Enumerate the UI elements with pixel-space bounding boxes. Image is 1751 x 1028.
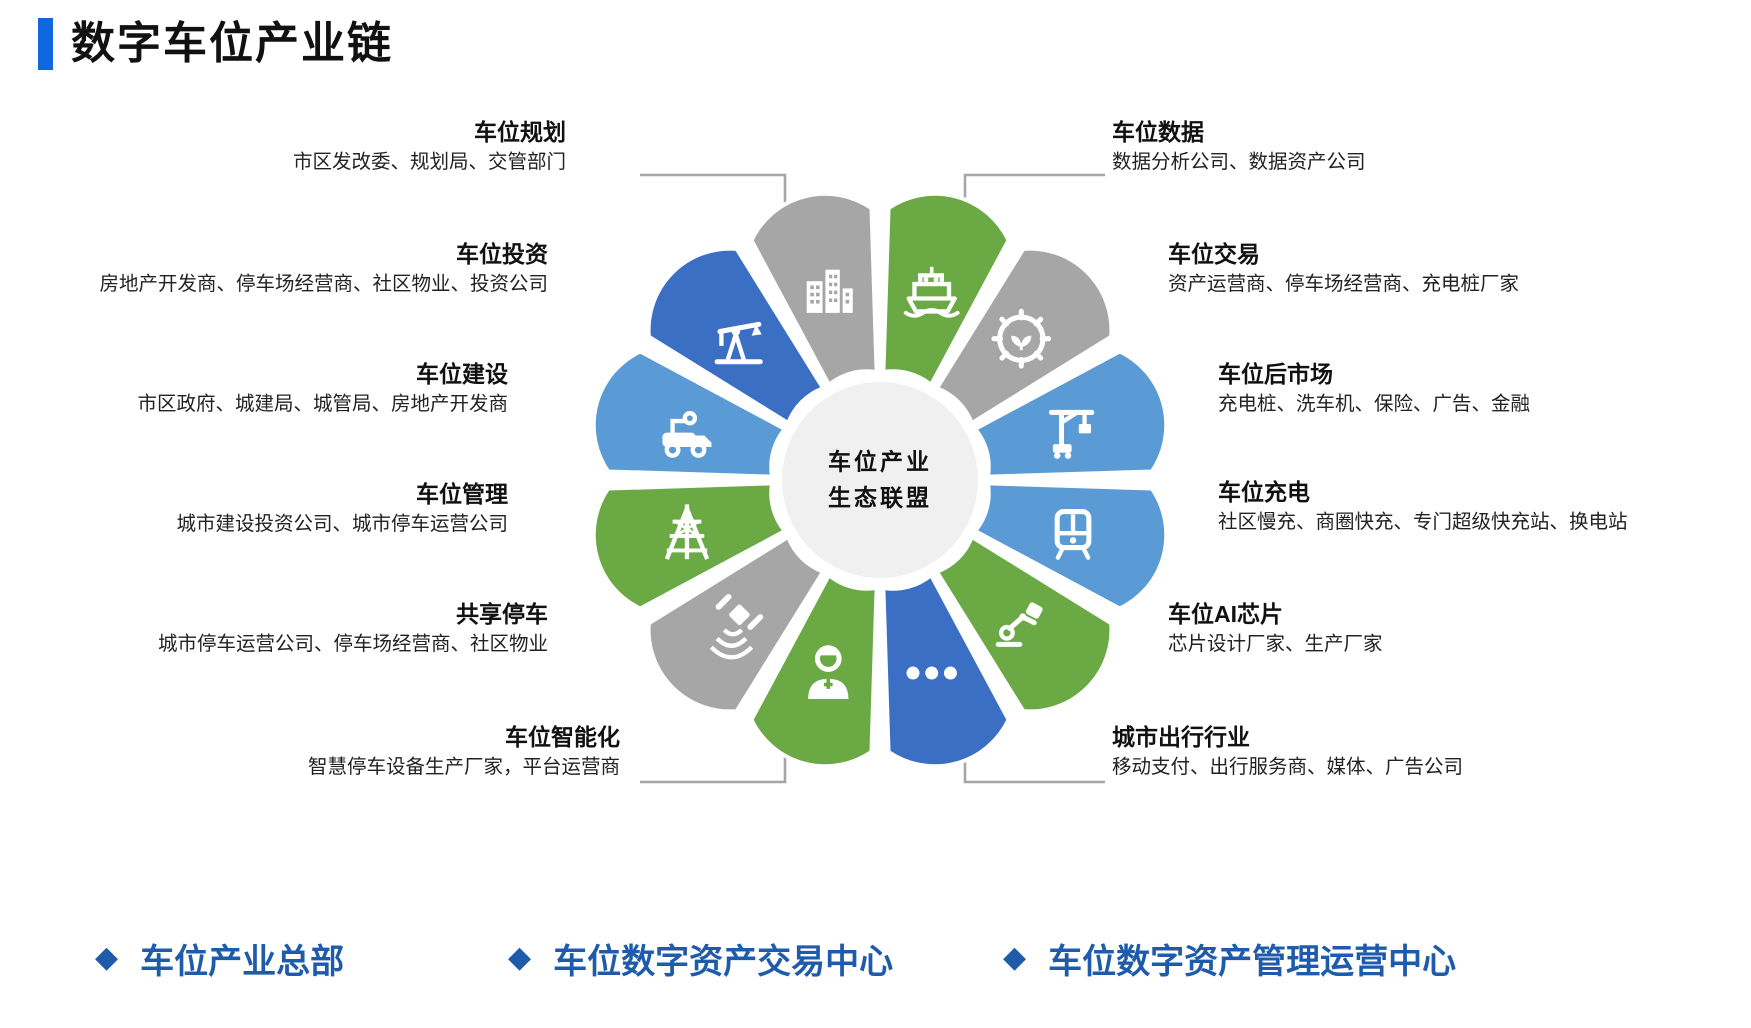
label-mobility-title: 城市出行行业 bbox=[1112, 723, 1463, 752]
label-construct-title: 车位建设 bbox=[0, 360, 508, 389]
label-mobility: 城市出行行业 移动支付、出行服务商、媒体、广告公司 bbox=[1112, 723, 1463, 780]
wheel-svg bbox=[500, 160, 1260, 800]
hub-circle bbox=[782, 382, 978, 578]
label-trade: 车位交易 资产运营商、停车场经营商、充电桩厂家 bbox=[1168, 240, 1519, 297]
label-planning-sub: 市区发改委、规划局、交管部门 bbox=[0, 150, 566, 175]
diamond-icon: ◆ bbox=[1003, 943, 1026, 973]
page-title: 数字车位产业链 bbox=[71, 22, 393, 66]
label-construct-sub: 市区政府、城建局、城管局、房地产开发商 bbox=[0, 392, 508, 417]
label-charging-sub: 社区慢充、商圈快充、专门超级快充站、换电站 bbox=[1218, 510, 1628, 535]
label-mobility-sub: 移动支付、出行服务商、媒体、广告公司 bbox=[1112, 755, 1463, 780]
label-invest: 车位投资 房地产开发商、停车场经营商、社区物业、投资公司 bbox=[0, 240, 548, 297]
label-aftermarket-title: 车位后市场 bbox=[1218, 360, 1530, 389]
footer-bar: ◆ 车位产业总部 ◆ 车位数字资产交易中心 ◆ 车位数字资产管理运营中心 bbox=[0, 918, 1751, 998]
footer-item-operations-label: 车位数字资产管理运营中心 bbox=[1048, 934, 1456, 983]
page-header: 数字车位产业链 bbox=[38, 18, 393, 70]
label-planning-title: 车位规划 bbox=[0, 118, 566, 147]
footer-item-hq-label: 车位产业总部 bbox=[140, 934, 344, 983]
dots-icon bbox=[907, 667, 957, 680]
label-aftermarket: 车位后市场 充电桩、洗车机、保险、广告、金融 bbox=[1218, 360, 1530, 417]
label-charging-title: 车位充电 bbox=[1218, 478, 1628, 507]
label-invest-sub: 房地产开发商、停车场经营商、社区物业、投资公司 bbox=[0, 272, 548, 297]
footer-item-exchange[interactable]: ◆ 车位数字资产交易中心 bbox=[508, 934, 893, 983]
label-ai-chip-sub: 芯片设计厂家、生产厂家 bbox=[1168, 632, 1383, 657]
label-charging: 车位充电 社区慢充、商圈快充、专门超级快充站、换电站 bbox=[1218, 478, 1628, 535]
label-trade-title: 车位交易 bbox=[1168, 240, 1519, 269]
label-ai-chip: 车位AI芯片 芯片设计厂家、生产厂家 bbox=[1168, 600, 1383, 657]
label-data: 车位数据 数据分析公司、数据资产公司 bbox=[1112, 118, 1366, 175]
footer-item-operations[interactable]: ◆ 车位数字资产管理运营中心 bbox=[1003, 934, 1456, 983]
label-management-title: 车位管理 bbox=[0, 480, 508, 509]
label-smart-title: 车位智能化 bbox=[0, 723, 620, 752]
label-data-title: 车位数据 bbox=[1112, 118, 1366, 147]
label-sharing-title: 共享停车 bbox=[0, 600, 548, 629]
label-smart-sub: 智慧停车设备生产厂家，平台运营商 bbox=[0, 755, 620, 780]
label-ai-chip-title: 车位AI芯片 bbox=[1168, 600, 1383, 629]
label-trade-sub: 资产运营商、停车场经营商、充电桩厂家 bbox=[1168, 272, 1519, 297]
footer-item-hq[interactable]: ◆ 车位产业总部 bbox=[95, 934, 344, 983]
diamond-icon: ◆ bbox=[508, 943, 531, 973]
label-management: 车位管理 城市建设投资公司、城市停车运营公司 bbox=[0, 480, 508, 537]
label-sharing-sub: 城市停车运营公司、停车场经营商、社区物业 bbox=[0, 632, 548, 657]
label-planning: 车位规划 市区发改委、规划局、交管部门 bbox=[0, 118, 566, 175]
label-data-sub: 数据分析公司、数据资产公司 bbox=[1112, 150, 1366, 175]
diamond-icon: ◆ bbox=[95, 943, 118, 973]
label-smart: 车位智能化 智慧停车设备生产厂家，平台运营商 bbox=[0, 723, 620, 780]
label-construct: 车位建设 市区政府、城建局、城管局、房地产开发商 bbox=[0, 360, 508, 417]
label-aftermarket-sub: 充电桩、洗车机、保险、广告、金融 bbox=[1218, 392, 1530, 417]
industry-chain-wheel: 车位产业 生态联盟 bbox=[500, 160, 1260, 800]
label-sharing: 共享停车 城市停车运营公司、停车场经营商、社区物业 bbox=[0, 600, 548, 657]
label-invest-title: 车位投资 bbox=[0, 240, 548, 269]
label-management-sub: 城市建设投资公司、城市停车运营公司 bbox=[0, 512, 508, 537]
title-accent-bar bbox=[38, 18, 53, 70]
footer-item-exchange-label: 车位数字资产交易中心 bbox=[553, 934, 893, 983]
